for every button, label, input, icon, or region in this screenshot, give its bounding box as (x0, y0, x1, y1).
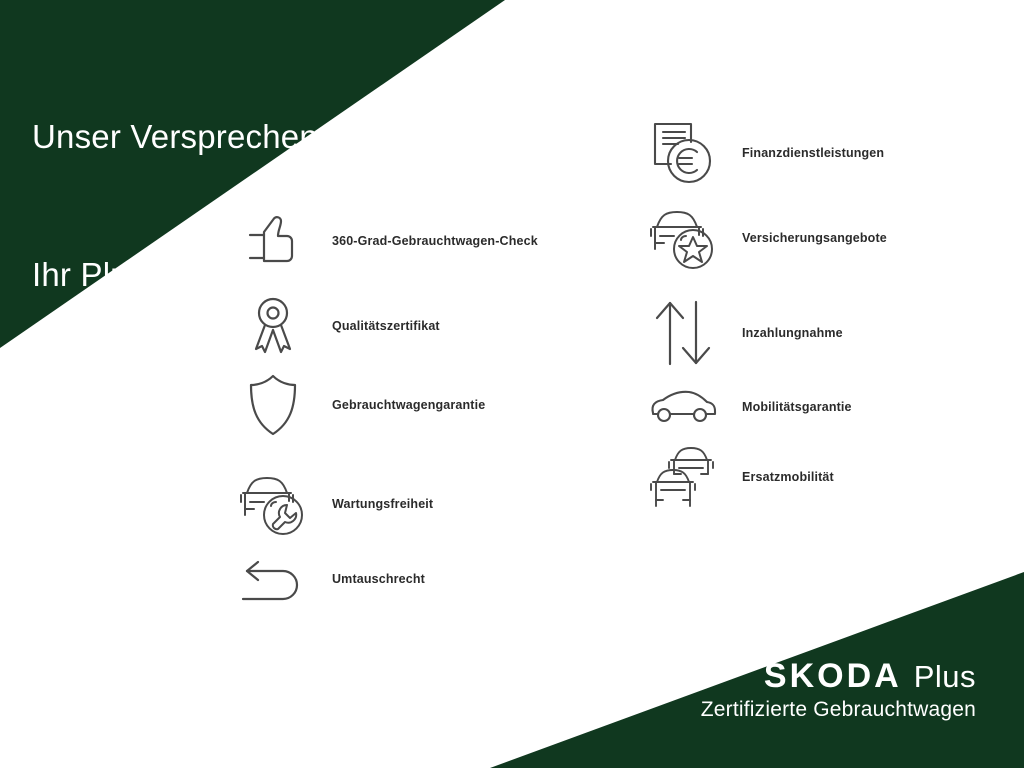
feature-label: Inzahlungnahme (742, 326, 843, 340)
feature-item: Finanzdienstleistungen (648, 118, 884, 188)
two-cars-icon (648, 442, 718, 512)
feature-item: 360-Grad-Gebrauchtwagen-Check (238, 206, 538, 276)
feature-label: 360-Grad-Gebrauchtwagen-Check (332, 234, 538, 248)
trade-in-arrows-icon (648, 298, 718, 368)
car-star-icon (648, 203, 718, 273)
feature-label: Finanzdienstleistungen (742, 146, 884, 160)
headline-line-1: Unser Versprechen. (32, 114, 327, 160)
feature-label: Ersatzmobilität (742, 470, 834, 484)
feature-item: Versicherungsangebote (648, 203, 887, 273)
brand-name: ŠKODA (764, 657, 902, 696)
feature-item: Umtauschrecht (238, 544, 425, 614)
brand-suffix: Plus (914, 659, 976, 695)
feature-item: Inzahlungnahme (648, 298, 843, 368)
quality-rosette-icon (238, 291, 308, 361)
feature-label: Qualitätszertifikat (332, 319, 440, 333)
feature-label: Gebrauchtwagengarantie (332, 398, 485, 412)
brand-tagline: Zertifizierte Gebrauchtwagen (701, 698, 976, 722)
feature-label: Wartungsfreiheit (332, 497, 433, 511)
feature-label: Versicherungsangebote (742, 231, 887, 245)
brand-lockup: ŠKODA Plus Zertifizierte Gebrauchtwagen (701, 657, 976, 722)
document-euro-icon (648, 118, 718, 188)
brand-title-row: ŠKODA Plus (701, 657, 976, 696)
feature-item: Mobilitätsgarantie (648, 372, 852, 442)
feature-item: Gebrauchtwagengarantie (238, 370, 485, 440)
u-turn-arrow-icon (238, 544, 308, 614)
car-wrench-icon (238, 469, 308, 539)
car-side-icon (648, 372, 718, 442)
feature-item: Wartungsfreiheit (238, 469, 433, 539)
feature-item: Qualitätszertifikat (238, 291, 440, 361)
shield-icon (238, 370, 308, 440)
feature-label: Mobilitätsgarantie (742, 400, 852, 414)
thumbs-up-icon (238, 206, 308, 276)
feature-label: Umtauschrecht (332, 572, 425, 586)
feature-item: Ersatzmobilität (648, 442, 834, 512)
promo-graphic: Unser Versprechen. Ihr Plus. 360-Grad-Ge… (0, 0, 1024, 768)
